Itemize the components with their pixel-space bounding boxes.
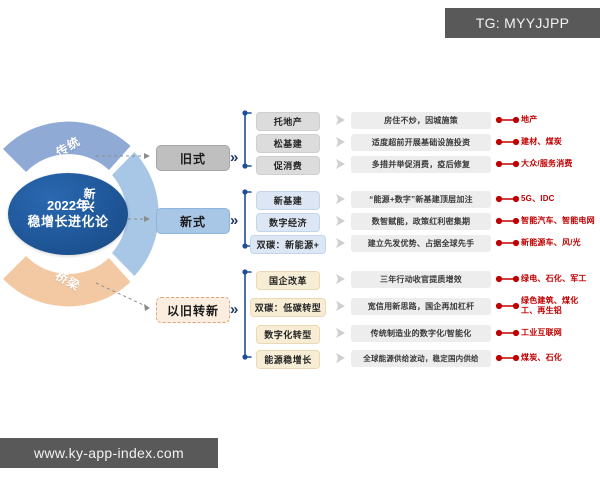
outcome-new-2: 新能源车、风/光 (521, 238, 581, 248)
branch-box-bridge[interactable]: 以旧转新 (156, 297, 230, 323)
hub-title-line2: 稳增长进化论 (27, 214, 108, 230)
donut-arc-traditional (3, 122, 131, 172)
chevron-icon-new: » (230, 213, 236, 228)
desc-new-1: 数智赋能，政策红利密集期 (351, 213, 491, 230)
chevron-icon-bridge: » (230, 302, 236, 317)
branch-box-new[interactable]: 新式 (156, 208, 230, 234)
sub-item-old-2[interactable]: 促消费 (256, 156, 320, 175)
telegram-tag-watermark: TG: MYYJJPP (445, 8, 600, 38)
outcome-old-1: 建材、煤炭 (521, 137, 562, 147)
sub-item-old-0[interactable]: 托地产 (256, 112, 320, 131)
sub-item-new-2[interactable]: 双碳：新能源+ (250, 235, 326, 254)
site-url-watermark: www.ky-app-index.com (0, 438, 218, 468)
branch-box-old[interactable]: 旧式 (156, 145, 230, 171)
desc-bridge-0: 三年行动收官提质增效 (351, 271, 491, 288)
step-arrows (336, 115, 345, 363)
central-hub: 2022年 稳增长进化论 (8, 173, 128, 255)
chevron-icon-old: » (230, 150, 236, 165)
hub-title-line1: 2022年 (47, 198, 89, 214)
outcome-old-2: 大众/服务消费 (521, 159, 573, 169)
outcome-bridge-0: 绿电、石化、军工 (521, 274, 587, 284)
desc-new-0: “能源+数字”新基建顶层加注 (351, 191, 491, 208)
outcome-connectors (497, 118, 519, 361)
group-bracket-old (245, 113, 251, 166)
sub-item-new-1[interactable]: 数字经济 (256, 213, 320, 232)
outcome-bridge-1: 绿色建筑、煤化工、再生铝 (521, 296, 593, 316)
desc-bridge-2: 传统制造业的数字化/智能化 (351, 325, 491, 342)
desc-old-2: 多措并举促消费，疫后修复 (351, 156, 491, 173)
sub-item-bridge-1[interactable]: 双碳：低碳转型 (250, 298, 326, 317)
outcome-bridge-3: 煤炭、石化 (521, 353, 562, 363)
diagram-canvas: 2022年 稳增长进化论 传统 新兴 桥梁 旧式 新式 以旧转新 » » » 托… (0, 0, 600, 480)
desc-bridge-1: 宽信用新思路，国企再加杠杆 (351, 298, 491, 315)
desc-new-2: 建立先发优势、占据全球先手 (351, 235, 491, 252)
desc-old-1: 适度超前开展基础设施投资 (351, 134, 491, 151)
sub-item-bridge-3[interactable]: 能源稳增长 (256, 350, 320, 369)
sub-item-bridge-0[interactable]: 国企改革 (256, 271, 320, 290)
desc-bridge-3: 全球能源供给波动，稳定国内供给 (351, 350, 491, 367)
sub-item-new-0[interactable]: 新基建 (256, 191, 320, 210)
outcome-new-1: 智能汽车、智能电网 (521, 216, 595, 226)
sub-item-bridge-2[interactable]: 数字化转型 (256, 325, 320, 344)
sub-item-old-1[interactable]: 松基建 (256, 134, 320, 153)
desc-old-0: 房住不炒，因城施策 (351, 112, 491, 129)
donut-arc-bridge (3, 256, 131, 306)
outcome-new-0: 5G、IDC (521, 194, 555, 204)
outcome-bridge-2: 工业互联网 (521, 328, 562, 338)
outcome-old-0: 地产 (521, 115, 537, 125)
